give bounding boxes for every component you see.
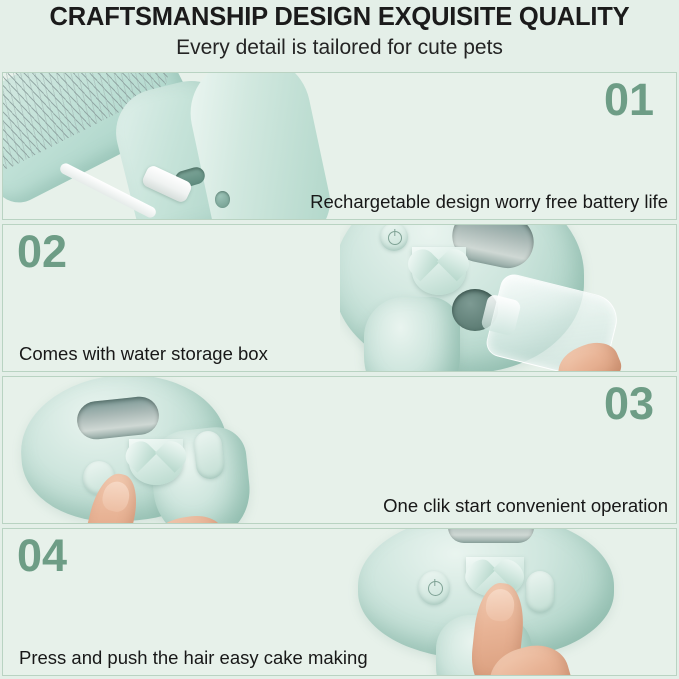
panel-caption-03: One clik start convenient operation: [383, 495, 668, 517]
fingernail: [484, 588, 515, 623]
panel-caption-04: Press and push the hair easy cake making: [19, 647, 368, 669]
page-title: CRAFTSMANSHIP DESIGN EXQUISITE QUALITY: [50, 4, 630, 31]
water-level-window: [448, 529, 534, 543]
product-photo-press-push: [340, 529, 677, 675]
power-button: [418, 571, 450, 605]
fingernail: [100, 479, 132, 514]
panel-caption-01: Rechargetable design worry free battery …: [310, 191, 668, 213]
panel-number-01: 01: [604, 77, 654, 122]
power-icon: [388, 231, 402, 245]
product-photo-one-click: [3, 377, 380, 523]
heart-button: [129, 439, 183, 485]
infographic-page: CRAFTSMANSHIP DESIGN EXQUISITE QUALITY E…: [0, 0, 679, 679]
feature-panel-04: 04 Press and push the hair easy cake mak…: [2, 528, 677, 676]
handle-stem: [364, 297, 460, 371]
feature-panel-01: 01 Rechargetable design worry free batte…: [2, 72, 677, 220]
header: CRAFTSMANSHIP DESIGN EXQUISITE QUALITY E…: [0, 0, 679, 72]
panel-number-03: 03: [604, 381, 654, 426]
heart-button: [412, 247, 466, 295]
feature-panel-list: 01 Rechargetable design worry free batte…: [0, 72, 679, 679]
power-icon: [428, 581, 443, 596]
product-photo-water-box: [340, 225, 677, 371]
page-subtitle: Every detail is tailored for cute pets: [176, 36, 503, 60]
power-button: [380, 225, 408, 251]
panel-caption-02: Comes with water storage box: [19, 343, 268, 365]
panel-number-04: 04: [17, 533, 67, 578]
feature-panel-03: 03 One clik start convenient operation: [2, 376, 677, 524]
panel-number-02: 02: [17, 229, 67, 274]
release-button: [526, 571, 554, 613]
feature-panel-02: 02 Comes with water storage box: [2, 224, 677, 372]
vent-hole: [215, 191, 230, 208]
